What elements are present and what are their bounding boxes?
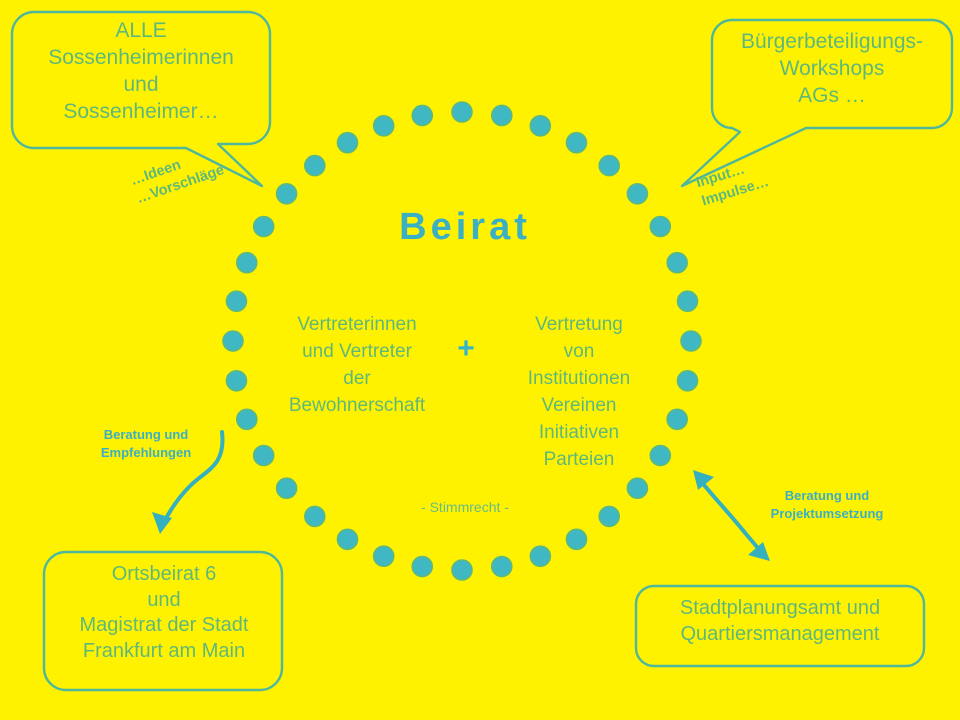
arrow-right-caption: Beratung und Projektumsetzung xyxy=(742,487,912,522)
ring-dot xyxy=(338,133,358,153)
center-footnote: - Stimmrecht - xyxy=(365,499,565,517)
ring-dot xyxy=(678,291,698,311)
ring-dot xyxy=(599,506,619,526)
arrow-right-head-up xyxy=(693,470,714,490)
bubble-right-label: Bürgerbeteiligungs- Workshops AGs … xyxy=(716,29,948,110)
center-column-left: Vertreterinnen und Vertreter der Bewohne… xyxy=(268,312,446,420)
ring-dot xyxy=(237,253,257,273)
annotation-ideen-vorschlaege: …Ideen …Vorschläge xyxy=(128,143,227,208)
ring-dot xyxy=(599,156,619,176)
page-title: Beirat xyxy=(330,203,600,252)
ring-dot xyxy=(277,184,297,204)
diagram-canvas: ALLE Sossenheimerinnen und Sossenheimer…… xyxy=(0,0,960,720)
plus-icon: + xyxy=(446,330,486,368)
ring-dot xyxy=(412,557,432,577)
ring-dot xyxy=(681,331,701,351)
ring-dot xyxy=(226,371,246,391)
ring-dot xyxy=(627,184,647,204)
ring-dot xyxy=(530,546,550,566)
ring-dot xyxy=(277,478,297,498)
box-right-label: Stadtplanungsamt und Quartiersmanagement xyxy=(644,596,916,647)
arrow-left-head xyxy=(152,512,172,534)
ring-dot xyxy=(667,409,687,429)
arrow-left-caption: Beratung und Empfehlungen xyxy=(76,426,216,461)
ring-dot xyxy=(305,156,325,176)
ring-dot xyxy=(530,116,550,136)
ring-dot xyxy=(338,529,358,549)
ring-dot xyxy=(374,546,394,566)
ring-dot xyxy=(678,371,698,391)
ring-dot xyxy=(254,217,274,237)
ring-dot xyxy=(374,116,394,136)
ring-dot xyxy=(237,409,257,429)
ring-dot xyxy=(627,478,647,498)
arrow-right-head-down xyxy=(748,542,770,561)
annotation-input-impulse: Input… Impulse… xyxy=(694,155,771,211)
ring-dot xyxy=(492,105,512,125)
ring-dot xyxy=(667,253,687,273)
ring-dot xyxy=(226,291,246,311)
box-left-label: Ortsbeirat 6 und Magistrat der Stadt Fra… xyxy=(52,562,276,664)
ring-dot xyxy=(412,105,432,125)
ring-dot xyxy=(567,529,587,549)
ring-dot xyxy=(567,133,587,153)
bubble-left-label: ALLE Sossenheimerinnen und Sossenheimer… xyxy=(16,18,266,126)
center-column-right: Vertretung von Institutionen Vereinen In… xyxy=(490,312,668,474)
ring-dot xyxy=(452,560,472,580)
ring-dot xyxy=(223,331,243,351)
ring-dot xyxy=(492,557,512,577)
ring-dot xyxy=(650,217,670,237)
ring-dot xyxy=(305,506,325,526)
ring-dot xyxy=(254,446,274,466)
ring-dot xyxy=(452,102,472,122)
